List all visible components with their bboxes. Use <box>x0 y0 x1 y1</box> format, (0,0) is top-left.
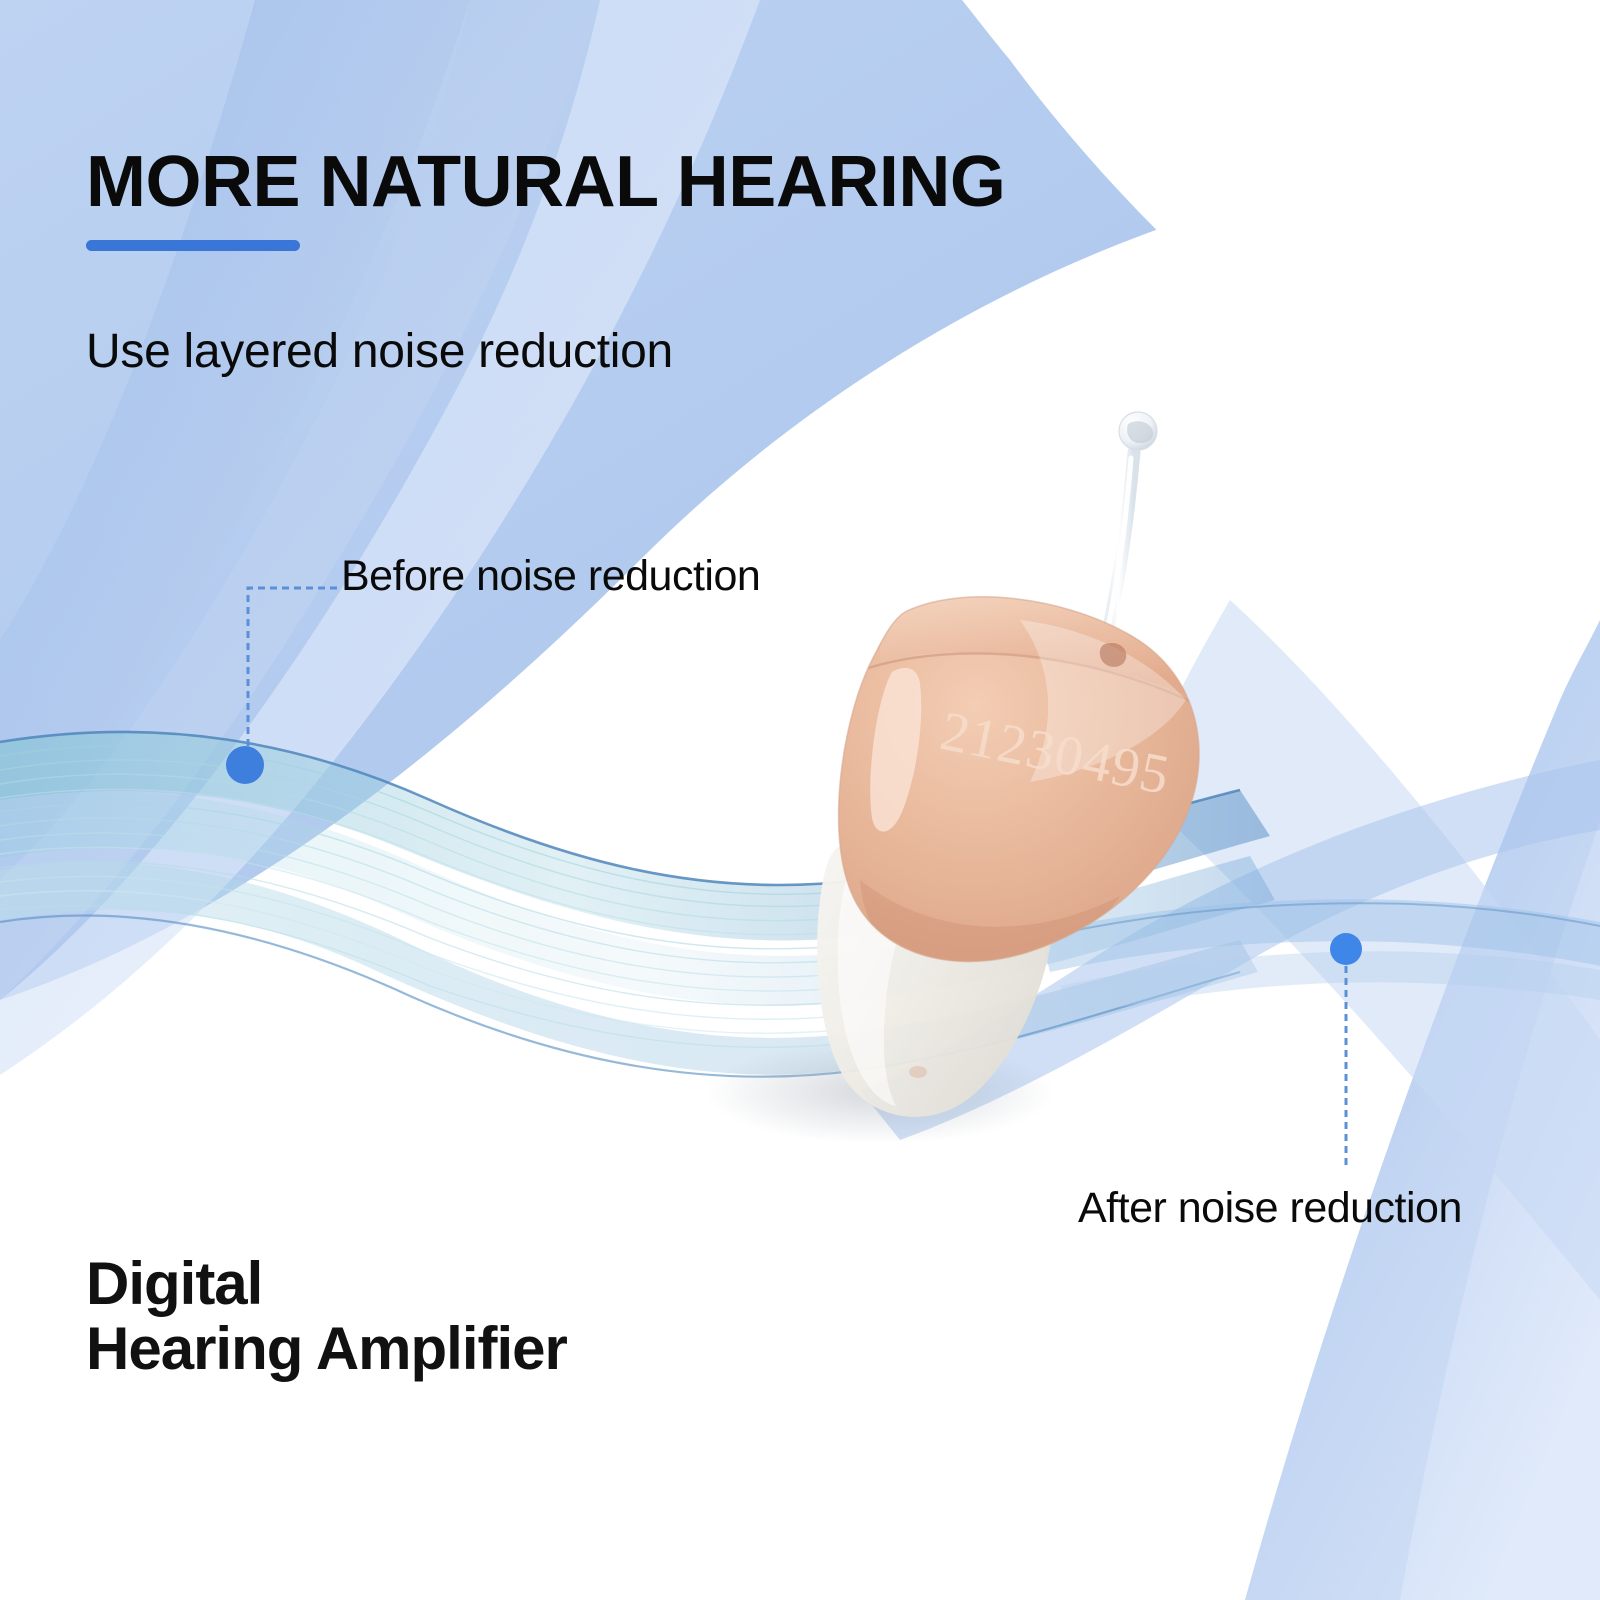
callout-dot-before[interactable] <box>226 746 264 784</box>
product-banner: 21230495 21230495 MORE NATURAL HEARING U… <box>0 0 1600 1600</box>
callout-label-after: After noise reduction <box>1078 1184 1462 1233</box>
page-title: MORE NATURAL HEARING <box>86 146 1005 218</box>
title-accent-bar <box>86 240 300 251</box>
page-subtitle: Use layered noise reduction <box>86 324 673 379</box>
brand-line-2: Hearing Amplifier <box>86 1317 567 1382</box>
brand-line-1: Digital <box>86 1252 567 1317</box>
leader-line-before <box>248 588 337 752</box>
callout-label-before: Before noise reduction <box>341 552 760 601</box>
brand-name: Digital Hearing Amplifier <box>86 1252 567 1382</box>
callout-dot-after[interactable] <box>1330 933 1362 965</box>
